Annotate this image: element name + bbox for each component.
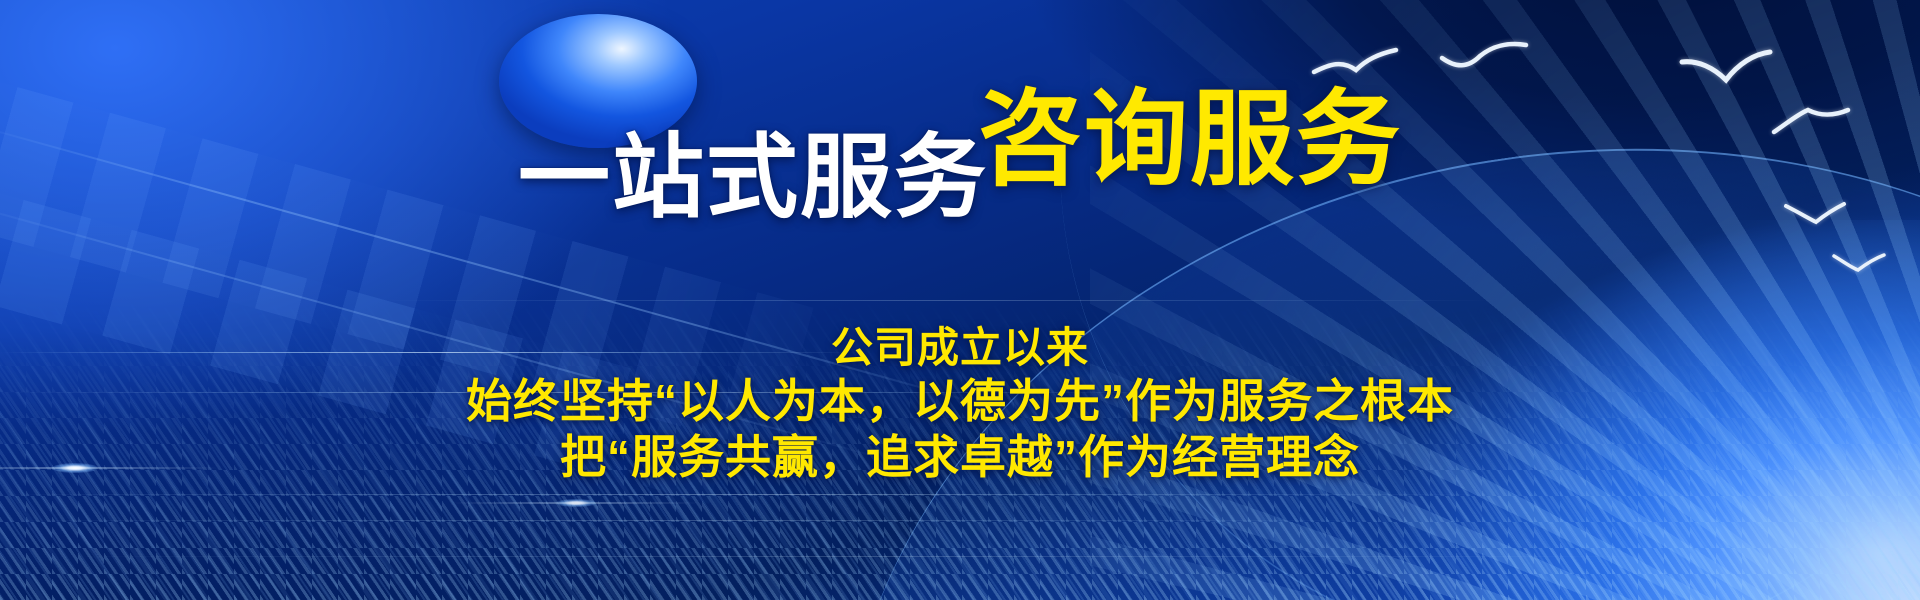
headline-primary-text: 一站式服务 — [518, 132, 988, 224]
body-copy-block: 公司成立以来 始终坚持“以人为本，以德为先”作为服务之根本 把“服务共赢，追求卓… — [0, 322, 1920, 485]
service-banner: 一站式服务 咨询服务 公司成立以来 始终坚持“以人为本，以德为先”作为服务之根本… — [0, 0, 1920, 600]
body-line-3: 把“服务共赢，追求卓越”作为经营理念 — [0, 429, 1920, 485]
body-line-2: 始终坚持“以人为本，以德为先”作为服务之根本 — [0, 373, 1920, 429]
headline-group: 一站式服务 咨询服务 — [0, 88, 1920, 192]
headline-accent-text: 咨询服务 — [978, 88, 1402, 192]
body-line-1: 公司成立以来 — [0, 322, 1920, 373]
banner-content: 一站式服务 咨询服务 公司成立以来 始终坚持“以人为本，以德为先”作为服务之根本… — [0, 0, 1920, 600]
